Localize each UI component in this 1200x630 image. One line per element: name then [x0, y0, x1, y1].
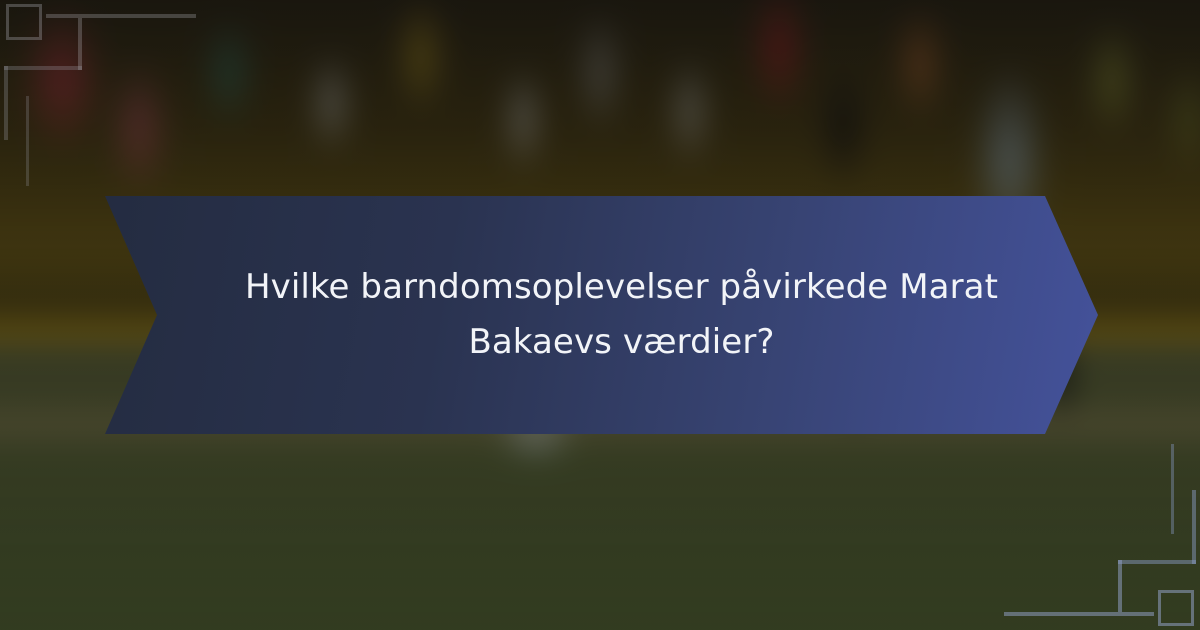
corner-frame-bottom-right: [1000, 490, 1200, 630]
corner-line-vertical-tail: [1171, 444, 1174, 534]
headline-text: Hvilke barndomsoplevelser påvirkede Mara…: [242, 260, 1002, 370]
corner-line-vertical-outer: [1118, 560, 1122, 612]
corner-square-icon: [6, 4, 42, 40]
corner-line-vertical-inner: [1192, 490, 1196, 564]
corner-line-horizontal-inner: [4, 66, 82, 70]
corner-line-vertical-inner: [4, 66, 8, 140]
corner-square-icon: [1158, 590, 1194, 626]
corner-line-horizontal-outer: [1004, 612, 1154, 616]
corner-frame-top-left: [0, 0, 200, 140]
headline-line-2: Bakaevs værdier?: [468, 322, 774, 362]
headline-line-1: Hvilke barndomsoplevelser påvirkede Mara…: [245, 267, 998, 307]
share-card: Hvilke barndomsoplevelser påvirkede Mara…: [0, 0, 1200, 630]
corner-line-horizontal-outer: [46, 14, 196, 18]
headline-banner: Hvilke barndomsoplevelser påvirkede Mara…: [105, 196, 1098, 434]
corner-line-horizontal-inner: [1118, 560, 1196, 564]
corner-line-vertical-tail: [26, 96, 29, 186]
corner-line-vertical-outer: [78, 18, 82, 70]
